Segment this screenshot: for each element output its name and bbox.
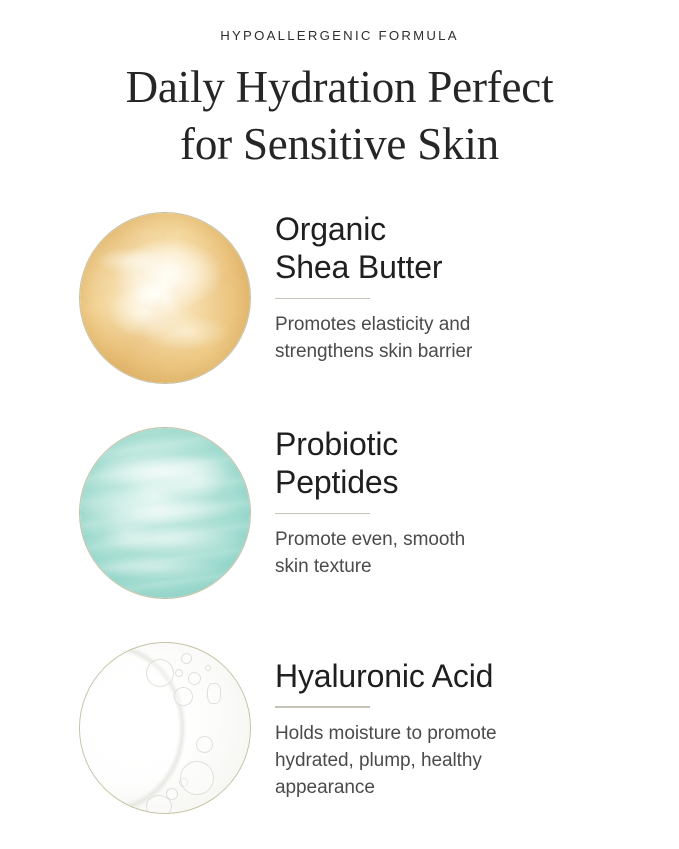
- hyaluronic-acid-swatch: [80, 643, 250, 813]
- ingredient-title-line-1: Organic: [275, 210, 655, 248]
- ingredient-row-shea-butter: Organic Shea Butter Promotes elasticity …: [0, 213, 679, 428]
- probiotic-peptides-text-block: Probiotic Peptides Promote even, smooth …: [275, 425, 655, 581]
- ingredient-desc-line-1: Promotes elasticity and: [275, 312, 655, 339]
- ingredient-title-hyaluronic-acid: Hyaluronic Acid: [275, 657, 655, 695]
- page-title-line-1: Daily Hydration Perfect: [0, 59, 679, 116]
- shea-butter-text-block: Organic Shea Butter Promotes elasticity …: [275, 210, 655, 366]
- title-divider: [275, 706, 370, 708]
- page-title-line-2: for Sensitive Skin: [0, 116, 679, 173]
- ingredient-list: Organic Shea Butter Promotes elasticity …: [0, 213, 679, 849]
- eyebrow-label: HYPOALLERGENIC FORMULA: [0, 29, 679, 42]
- ingredient-benefits-infographic: HYPOALLERGENIC FORMULA Daily Hydration P…: [0, 0, 679, 849]
- ingredient-desc-line-2: strengthens skin barrier: [275, 339, 655, 366]
- ingredient-title-line-1: Hyaluronic Acid: [275, 657, 655, 695]
- ingredient-desc-line-2: hydrated, plump, healthy: [275, 748, 655, 775]
- ingredient-row-hyaluronic-acid: Hyaluronic Acid Holds moisture to promot…: [0, 643, 679, 849]
- ingredient-description-hyaluronic-acid: Holds moisture to promote hydrated, plum…: [275, 721, 655, 802]
- clear-edge-shading: [80, 643, 250, 813]
- ingredient-title-shea-butter: Organic Shea Butter: [275, 210, 655, 287]
- title-divider: [275, 513, 370, 515]
- ingredient-title-probiotic-peptides: Probiotic Peptides: [275, 425, 655, 502]
- ingredient-desc-line-1: Holds moisture to promote: [275, 721, 655, 748]
- ingredient-desc-line-1: Promote even, smooth: [275, 527, 655, 554]
- probiotic-peptides-swatch: [80, 428, 250, 598]
- title-divider: [275, 298, 370, 300]
- ingredient-desc-line-3: appearance: [275, 775, 655, 802]
- ingredient-title-line-2: Peptides: [275, 463, 655, 501]
- ingredient-description-shea-butter: Promotes elasticity and strengthens skin…: [275, 312, 655, 366]
- ingredient-title-line-1: Probiotic: [275, 425, 655, 463]
- shea-edge-shading: [80, 213, 250, 383]
- page-title: Daily Hydration Perfect for Sensitive Sk…: [0, 59, 679, 173]
- shea-butter-swatch: [80, 213, 250, 383]
- header: HYPOALLERGENIC FORMULA Daily Hydration P…: [0, 0, 679, 173]
- ingredient-row-probiotic-peptides: Probiotic Peptides Promote even, smooth …: [0, 428, 679, 643]
- ingredient-desc-line-2: skin texture: [275, 554, 655, 581]
- mint-edge-shading: [80, 428, 250, 598]
- hyaluronic-acid-text-block: Hyaluronic Acid Holds moisture to promot…: [275, 657, 655, 802]
- ingredient-title-line-2: Shea Butter: [275, 248, 655, 286]
- ingredient-description-probiotic-peptides: Promote even, smooth skin texture: [275, 527, 655, 581]
